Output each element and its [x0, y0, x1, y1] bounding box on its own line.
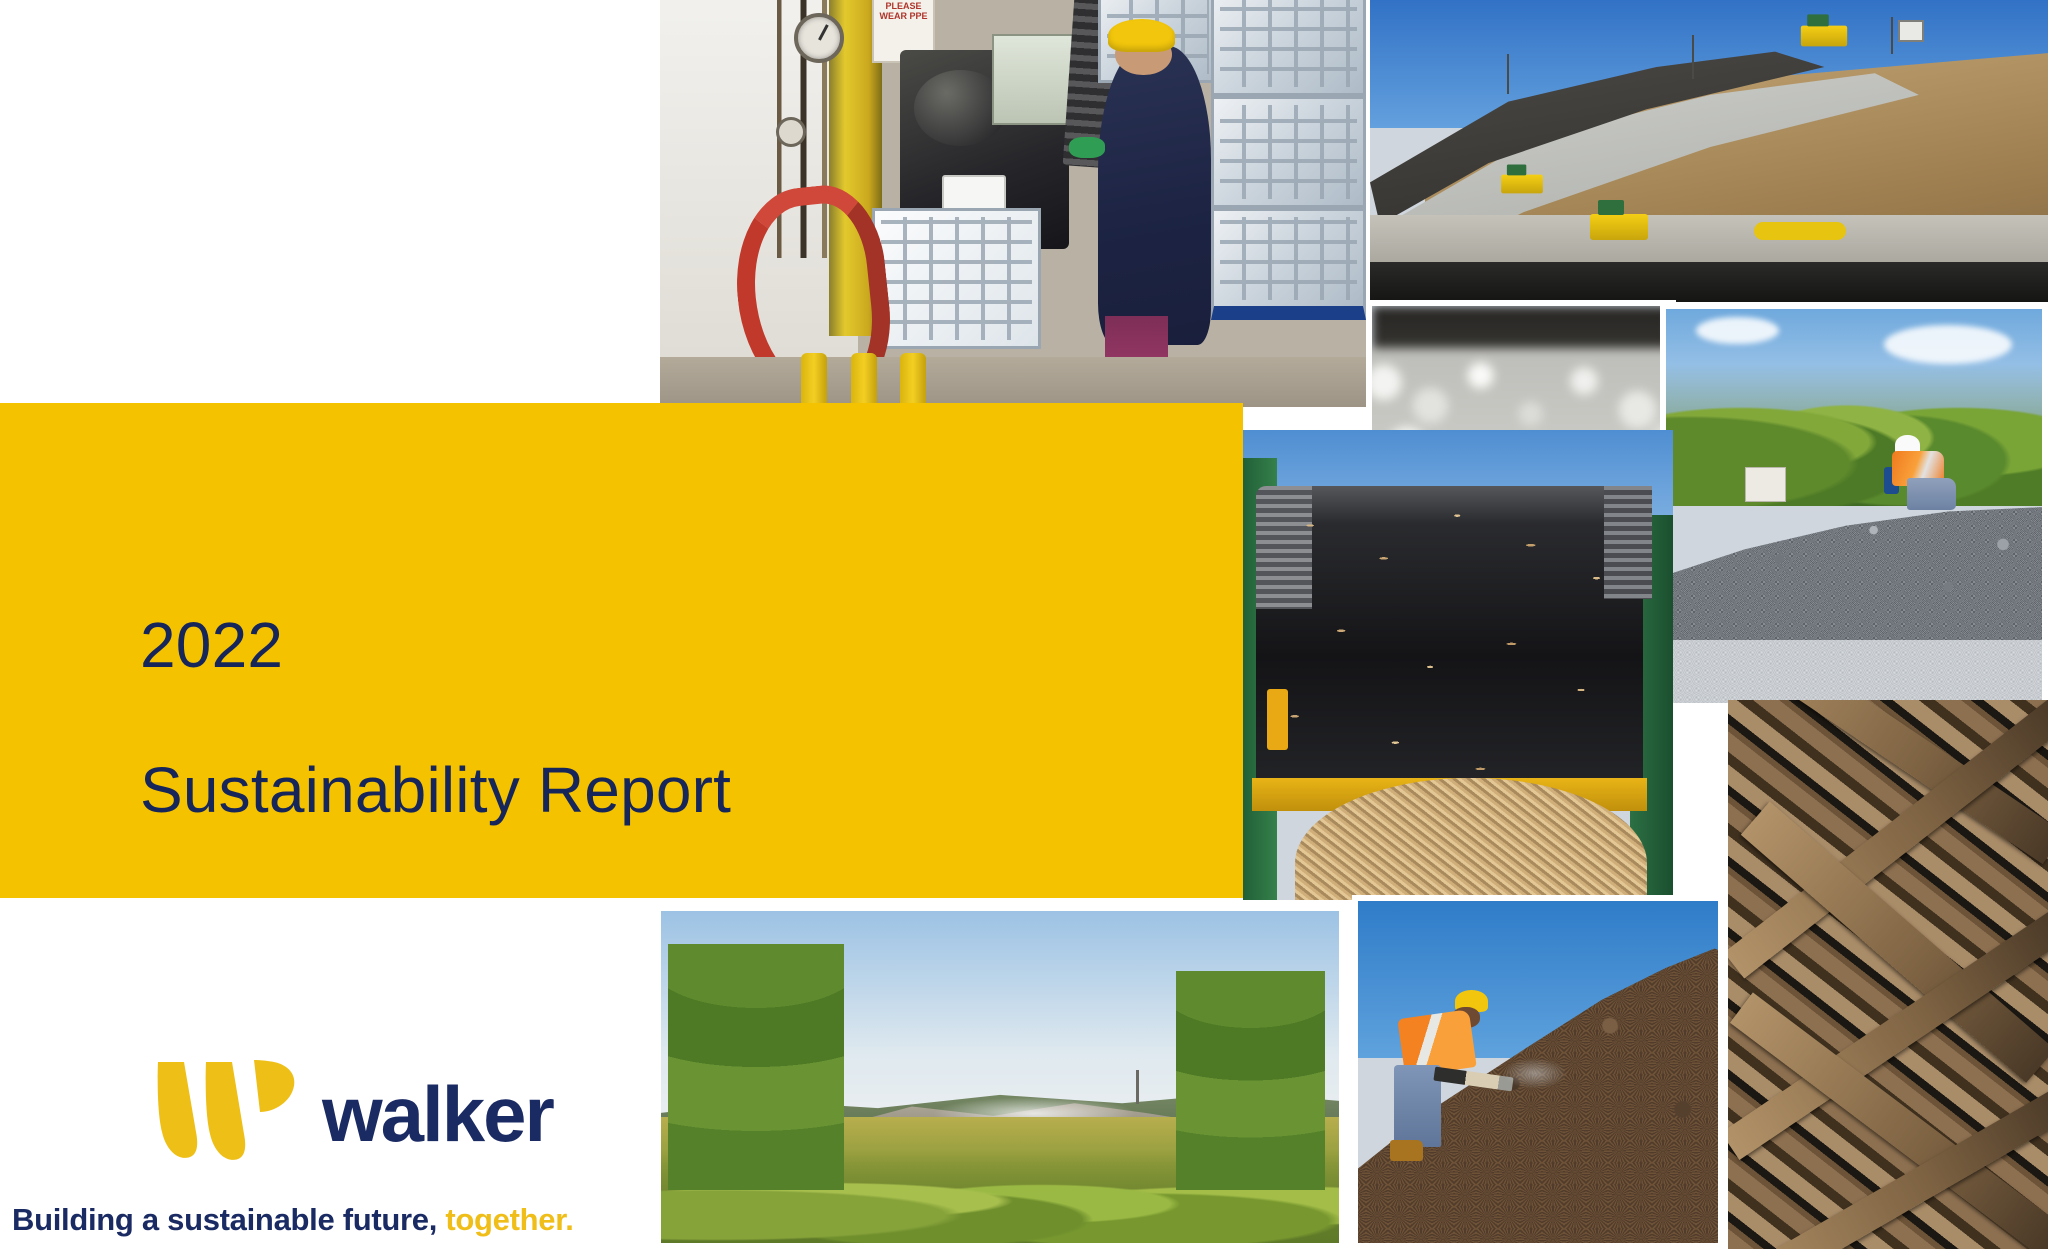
walker-w-mark-icon — [148, 1058, 300, 1170]
report-title: Sustainability Report — [140, 754, 731, 826]
page-title: 2022 Sustainability Report — [140, 537, 731, 899]
title-band: 2022 Sustainability Report — [0, 403, 1243, 898]
report-year: 2022 — [140, 609, 731, 681]
lab-technician-photo: PLEASEWEAR PPE — [660, 0, 1366, 407]
waste-timber-photo — [1728, 700, 2048, 1249]
landfill-slope-photo — [1370, 0, 2048, 302]
tagline-prefix: Building a sustainable future, — [12, 1202, 437, 1237]
brand-tagline: Building a sustainable future, together. — [12, 1202, 574, 1238]
aggregate-pile-photo — [1660, 303, 2048, 709]
reclaimed-landscape-photo — [655, 905, 1345, 1249]
compost-worker-photo — [1352, 895, 1724, 1249]
walker-wordmark: walker — [322, 1075, 553, 1153]
white-gutter-top-left — [0, 0, 660, 403]
logo-lockup: walker — [148, 1058, 553, 1170]
brand-logo-block: walker Building a sustainable future, to… — [0, 1030, 655, 1243]
tagline-accent: together. — [437, 1202, 574, 1237]
wood-grinder-photo — [1243, 430, 1673, 900]
